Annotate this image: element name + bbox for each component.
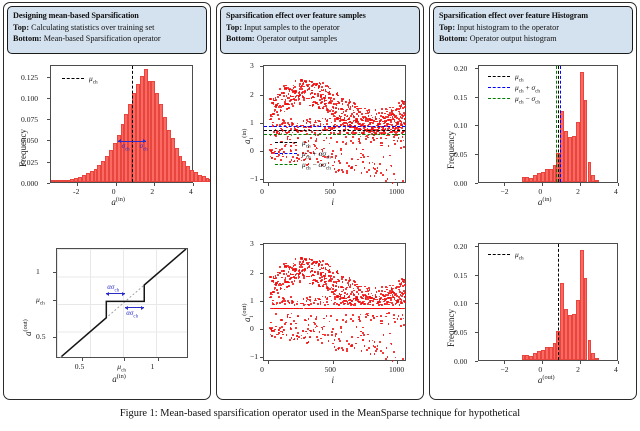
x-tickmark xyxy=(397,361,398,364)
scatter-dot xyxy=(321,279,323,281)
scatter-dot xyxy=(285,263,287,265)
y-axis-label: Frequency xyxy=(446,309,456,347)
scatter-dot xyxy=(394,321,396,323)
scatter-dot xyxy=(395,357,397,359)
scatter-dot xyxy=(301,266,303,268)
scatter-dot xyxy=(281,319,283,321)
scatter-dot xyxy=(337,273,339,275)
scatter-dot xyxy=(381,286,383,288)
scatter-dot xyxy=(393,351,395,353)
scatter-dot xyxy=(304,268,306,270)
scatter-dot xyxy=(299,269,301,271)
scatter-dot xyxy=(324,334,326,336)
scatter-dot xyxy=(388,312,390,314)
scatter-dot xyxy=(332,272,334,274)
scatter-dot xyxy=(279,266,281,268)
y-tickmark xyxy=(260,329,263,330)
scatter-dot xyxy=(270,296,272,298)
scatter-dot xyxy=(376,316,378,318)
scatter-dot xyxy=(317,326,319,328)
scatter-dot xyxy=(372,304,374,306)
scatter-dot xyxy=(351,336,353,338)
chart-output-samples: 05001000−10123iai(out) xyxy=(217,3,424,400)
scatter-dot xyxy=(354,281,356,283)
scatter-dot xyxy=(295,327,297,329)
scatter-dot xyxy=(312,308,314,310)
alpha-sigma-right-arrow xyxy=(125,307,144,308)
scatter-dot xyxy=(401,302,403,304)
scatter-dot xyxy=(286,308,288,310)
scatter-dot xyxy=(303,298,305,300)
histogram-bars xyxy=(479,244,617,360)
scatter-dot xyxy=(277,282,279,284)
scatter-dot xyxy=(273,304,275,306)
scatter-dot xyxy=(322,328,324,330)
scatter-dot xyxy=(322,286,324,288)
scatter-dot xyxy=(379,341,381,343)
scatter-dot xyxy=(341,278,343,280)
scatter-dot xyxy=(345,288,347,290)
scatter-dot xyxy=(397,301,399,303)
scatter-dot xyxy=(384,296,386,298)
chart-output-histogram: −20240.000.050.100.150.20a(out)Frequency… xyxy=(430,3,637,400)
scatter-dot xyxy=(335,333,337,335)
scatter-dot xyxy=(359,320,361,322)
scatter-dot xyxy=(385,358,387,360)
scatter-dot xyxy=(388,304,390,306)
scatter-dot xyxy=(275,308,277,310)
scatter-dot xyxy=(275,326,277,328)
scatter-dot xyxy=(362,298,364,300)
scatter-dot xyxy=(364,303,366,305)
y-tickmark xyxy=(53,300,56,301)
scatter-dot xyxy=(335,349,337,351)
scatter-dot xyxy=(308,308,310,310)
scatter-dot xyxy=(321,264,323,266)
scatter-dot xyxy=(309,283,311,285)
scatter-dot xyxy=(293,320,295,322)
scatter-dot xyxy=(294,308,296,310)
mu-line xyxy=(558,244,559,360)
scatter-dot xyxy=(403,281,405,283)
x-axis-label: a(out) xyxy=(538,374,555,385)
y-tickmark xyxy=(260,244,263,245)
scatter-dot xyxy=(277,292,279,294)
scatter-dot xyxy=(316,336,318,338)
scatter-dot xyxy=(387,287,389,289)
scatter-dot xyxy=(388,323,390,325)
scatter-dot xyxy=(331,278,333,280)
scatter-dot xyxy=(273,280,275,282)
scatter-dot xyxy=(331,334,333,336)
scatter-dot xyxy=(355,308,357,310)
scatter-dot xyxy=(272,294,274,296)
scatter-dot xyxy=(292,334,294,336)
scatter-dot xyxy=(330,280,332,282)
scatter-dot xyxy=(299,282,301,284)
y-tick-label: 0.00 xyxy=(454,357,467,366)
scatter-dot xyxy=(297,332,299,334)
scatter-dot xyxy=(376,299,378,301)
scatter-dot xyxy=(325,273,327,275)
scatter-dot xyxy=(361,291,363,293)
scatter-dot xyxy=(327,334,329,336)
scatter-dot xyxy=(301,338,303,340)
scatter-dot xyxy=(361,350,363,352)
scatter-dot xyxy=(280,337,282,339)
scatter-dot xyxy=(294,338,296,340)
x-tickmark xyxy=(618,361,619,364)
scatter-dot xyxy=(381,304,383,306)
scatter-dot xyxy=(319,308,321,310)
hist-bar xyxy=(595,358,599,360)
scatter-dot xyxy=(342,287,344,289)
scatter-dot xyxy=(331,331,333,333)
scatter-dot xyxy=(351,345,353,347)
scatter-dot xyxy=(375,308,377,310)
scatter-dot xyxy=(374,346,376,348)
scatter-dot xyxy=(378,308,380,310)
plot-area xyxy=(263,243,406,361)
scatter-dot xyxy=(280,284,282,286)
scatter-dot xyxy=(278,296,280,298)
scatter-dot xyxy=(349,279,351,281)
y-axis-label: ai(out) xyxy=(241,304,255,323)
scatter-dot xyxy=(284,289,286,291)
scatter-dot xyxy=(403,324,405,326)
x-tickmark xyxy=(124,358,125,361)
y-tickmark xyxy=(475,361,478,362)
scatter-dot xyxy=(274,308,276,310)
scatter-dot xyxy=(274,329,276,331)
scatter-dot xyxy=(316,316,318,318)
scatter-dot xyxy=(334,298,336,300)
scatter-dot xyxy=(278,332,280,334)
scatter-dot xyxy=(387,294,389,296)
scatter-dot xyxy=(324,304,326,306)
scatter-dot xyxy=(315,308,317,310)
scatter-dot xyxy=(353,290,355,292)
scatter-dot xyxy=(393,285,395,287)
scatter-dot xyxy=(290,296,292,298)
scatter-dot xyxy=(308,324,310,326)
scatter-dot xyxy=(360,314,362,316)
scatter-dot xyxy=(281,277,283,279)
x-tick-label: 1 xyxy=(151,362,155,371)
scatter-dot xyxy=(332,343,334,345)
scatter-dot xyxy=(282,334,284,336)
scatter-dot xyxy=(313,275,315,277)
scatter-dot xyxy=(369,340,371,342)
scatter-dot xyxy=(350,293,352,295)
scatter-dot xyxy=(338,280,340,282)
scatter-dot xyxy=(404,292,406,294)
x-tick-label: 0.5 xyxy=(75,362,85,371)
y-tick-label: 1 xyxy=(36,267,40,276)
y-tick-label: 3 xyxy=(250,239,254,248)
scatter-dot xyxy=(390,299,392,301)
scatter-dot xyxy=(342,319,344,321)
y-tick-label: 0.20 xyxy=(454,242,467,251)
scatter-dot xyxy=(319,286,321,288)
scatter-dot xyxy=(362,308,364,310)
scatter-dot xyxy=(375,350,377,352)
scatter-dot xyxy=(296,303,298,305)
x-tick-label: 0 xyxy=(538,365,542,374)
scatter-dot xyxy=(320,273,322,275)
scatter-dot xyxy=(306,300,308,302)
scatter-dot xyxy=(332,308,334,310)
scatter-dot xyxy=(327,297,329,299)
scatter-dot xyxy=(345,314,347,316)
x-tickmark xyxy=(158,358,159,361)
scatter-dot xyxy=(356,326,358,328)
scatter-dot xyxy=(398,280,400,282)
scatter-dot xyxy=(306,308,308,310)
x-tick-label: 1000 xyxy=(389,365,404,374)
scatter-dot xyxy=(295,269,297,271)
scatter-dot xyxy=(340,308,342,310)
scatter-dot xyxy=(311,268,313,270)
scatter-dot xyxy=(309,337,311,339)
scatter-dot xyxy=(384,291,386,293)
x-tickmark xyxy=(333,361,334,364)
scatter-dot xyxy=(379,308,381,310)
scatter-dot xyxy=(305,320,307,322)
x-tickmark xyxy=(504,361,505,364)
scatter-dot xyxy=(367,334,369,336)
scatter-dot xyxy=(294,280,296,282)
scatter-dot xyxy=(376,291,378,293)
scatter-dot xyxy=(325,278,327,280)
scatter-dot xyxy=(367,315,369,317)
x-axis-label: a(in) xyxy=(112,373,126,384)
scatter-dot xyxy=(313,331,315,333)
scatter-dot xyxy=(379,301,381,303)
scatter-dot xyxy=(386,289,388,291)
scatter-dot xyxy=(334,346,336,348)
scatter-dot xyxy=(331,300,333,302)
scatter-dot xyxy=(332,328,334,330)
scatter-dot xyxy=(289,317,291,319)
scatter-dot xyxy=(294,304,296,306)
scatter-dot xyxy=(374,353,376,355)
scatter-dot xyxy=(395,308,397,310)
scatter-dot xyxy=(337,308,339,310)
scatter-dot xyxy=(402,308,404,310)
scatter-dot xyxy=(270,322,272,324)
scatter-dot xyxy=(338,347,340,349)
alpha-sigma-right-label: ασch xyxy=(126,309,138,319)
scatter-dot xyxy=(368,293,370,295)
scatter-dot xyxy=(309,296,311,298)
y-tick-label: −1 xyxy=(250,352,258,361)
scatter-dot xyxy=(346,340,348,342)
x-tick-label: 4 xyxy=(614,365,618,374)
alpha-sigma-left-label: ασch xyxy=(107,283,119,293)
operator-curve xyxy=(57,249,189,359)
scatter-dot xyxy=(315,318,317,320)
scatter-dot xyxy=(308,276,310,278)
scatter-dot xyxy=(320,303,322,305)
scatter-dot xyxy=(403,293,405,295)
scatter-dot xyxy=(401,282,403,284)
scatter-dot xyxy=(357,337,359,339)
scatter-dot xyxy=(329,266,331,268)
legend: μch xyxy=(488,249,524,260)
scatter-dot xyxy=(370,353,372,355)
scatter-dot xyxy=(319,299,321,301)
scatter-dot xyxy=(381,323,383,325)
scatter-dot xyxy=(276,304,278,306)
x-tickmark xyxy=(268,361,269,364)
panel-designing-sparsification: Designing mean-based Sparsification Top:… xyxy=(3,2,211,400)
scatter-dot xyxy=(391,343,393,345)
y-tickmark xyxy=(260,357,263,358)
scatter-dot xyxy=(291,308,293,310)
scatter-dot xyxy=(386,347,388,349)
x-tick-label: 0 xyxy=(260,365,264,374)
scatter-dot xyxy=(403,318,405,320)
scatter-dot xyxy=(276,302,278,304)
scatter-dot xyxy=(326,301,328,303)
plot-area: ασchασch xyxy=(56,248,188,358)
scatter-dot xyxy=(327,304,329,306)
scatter-dot xyxy=(364,345,366,347)
chart-operator-function: ασchασch0.5μch10.5μch1a(in)a(out) xyxy=(4,3,211,400)
scatter-dot xyxy=(286,334,288,336)
scatter-dot xyxy=(329,271,331,273)
scatter-dot xyxy=(322,296,324,298)
scatter-dot xyxy=(341,331,343,333)
scatter-dot xyxy=(385,308,387,310)
scatter-dot xyxy=(374,341,376,343)
scatter-dot xyxy=(310,303,312,305)
x-tick-label: −2 xyxy=(500,365,508,374)
scatter-dot xyxy=(303,277,305,279)
scatter-dot xyxy=(338,286,340,288)
scatter-dot xyxy=(279,327,281,329)
scatter-dot xyxy=(274,289,276,291)
scatter-dot xyxy=(404,301,406,303)
scatter-dot xyxy=(370,319,372,321)
scatter-dot xyxy=(323,326,325,328)
scatter-dot xyxy=(291,323,293,325)
scatter-dot xyxy=(297,316,299,318)
scatter-dot xyxy=(304,271,306,273)
panel-sparsification-samples: Sparsification effect over feature sampl… xyxy=(216,2,424,400)
scatter-dot xyxy=(354,347,356,349)
scatter-dot xyxy=(364,308,366,310)
scatter-dot xyxy=(336,319,338,321)
scatter-dot xyxy=(377,345,379,347)
scatter-dot xyxy=(322,260,324,262)
scatter-dot xyxy=(344,308,346,310)
scatter-dot xyxy=(393,314,395,316)
y-tick-label: 0.5 xyxy=(36,332,46,341)
scatter-dot xyxy=(343,276,345,278)
scatter-dot xyxy=(292,274,294,276)
scatter-dot xyxy=(355,343,357,345)
scatter-dot xyxy=(388,308,390,310)
scatter-dot xyxy=(329,321,331,323)
y-tickmark xyxy=(260,301,263,302)
scatter-dot xyxy=(279,272,281,274)
scatter-dot xyxy=(329,288,331,290)
scatter-dot xyxy=(360,286,362,288)
scatter-dot xyxy=(315,263,317,265)
scatter-dot xyxy=(295,258,297,260)
scatter-dot xyxy=(282,331,284,333)
x-tick-label: 500 xyxy=(325,365,336,374)
scatter-dot xyxy=(275,277,277,279)
y-tick-label: 0.10 xyxy=(454,299,467,308)
scatter-dot xyxy=(363,339,365,341)
scatter-dot xyxy=(393,318,395,320)
scatter-dot xyxy=(334,339,336,341)
scatter-dot xyxy=(368,347,370,349)
scatter-dot xyxy=(308,262,310,264)
x-tickmark xyxy=(82,358,83,361)
y-tickmark xyxy=(475,275,478,276)
scatter-dot xyxy=(284,303,286,305)
scatter-dot xyxy=(381,290,383,292)
scatter-dot xyxy=(335,286,337,288)
scatter-dot xyxy=(348,296,350,298)
scatter-dot xyxy=(294,264,296,266)
scatter-dot xyxy=(287,316,289,318)
scatter-dot xyxy=(362,327,364,329)
scatter-dot xyxy=(375,296,377,298)
scatter-dot xyxy=(284,323,286,325)
y-tick-label: 2 xyxy=(250,268,254,277)
y-tickmark xyxy=(260,273,263,274)
scatter-dot xyxy=(283,308,285,310)
scatter-dot xyxy=(273,330,275,332)
scatter-dot xyxy=(303,260,305,262)
figure-container: Designing mean-based Sparsification Top:… xyxy=(0,0,640,431)
scatter-dot xyxy=(303,330,305,332)
scatter-dot xyxy=(371,308,373,310)
scatter-dot xyxy=(299,261,301,263)
scatter-dot xyxy=(305,259,307,261)
scatter-dot xyxy=(334,308,336,310)
scatter-dot xyxy=(291,313,293,315)
scatter-dot xyxy=(393,308,395,310)
scatter-dot xyxy=(346,350,348,352)
scatter-dot xyxy=(335,335,337,337)
scatter-dot xyxy=(275,313,277,315)
scatter-dot xyxy=(321,342,323,344)
scatter-dot xyxy=(404,279,406,281)
scatter-dot xyxy=(285,277,287,279)
scatter-dot xyxy=(328,340,330,342)
scatter-dot xyxy=(330,308,332,310)
scatter-dot xyxy=(310,330,312,332)
scatter-dot xyxy=(372,300,374,302)
scatter-dot xyxy=(317,303,319,305)
panel-sparsification-histogram: Sparsification effect over feature Histo… xyxy=(429,2,637,400)
scatter-dot xyxy=(349,308,351,310)
scatter-dot xyxy=(389,333,391,335)
scatter-dot xyxy=(387,356,389,358)
scatter-dot xyxy=(400,325,402,327)
scatter-dot xyxy=(273,291,275,293)
scatter-dot xyxy=(292,301,294,303)
scatter-dot xyxy=(300,272,302,274)
scatter-dot xyxy=(378,290,380,292)
scatter-dot xyxy=(402,314,404,316)
